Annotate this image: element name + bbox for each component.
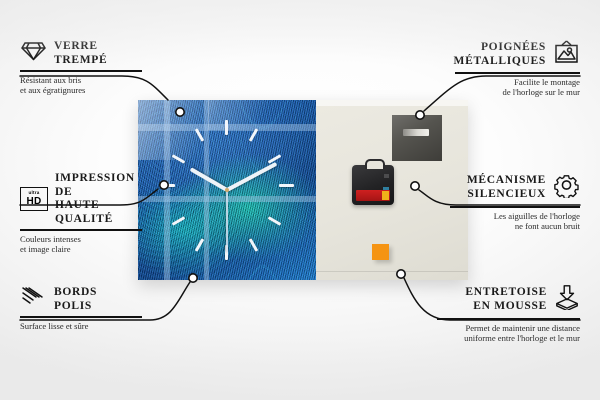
bracket-slot [403, 129, 429, 136]
hour-marker [279, 184, 294, 187]
callout-title-line1: ENTRETOISE [465, 286, 547, 300]
panel-edge-line [316, 271, 468, 272]
callout-title-line2: HAUTE QUALITÉ [55, 199, 155, 226]
polished-edges-icon [20, 286, 47, 313]
hour-marker [160, 184, 175, 187]
callout-desc-line1: Surface lisse et sûre [20, 321, 150, 332]
callout-title-line1: VERRE [54, 40, 107, 54]
ultra-hd-icon-main: HD [26, 197, 41, 207]
callout-rule [455, 72, 580, 74]
callout-desc-line2: et aux égratignures [20, 85, 150, 96]
infographic-canvas: VERRE TREMPÉ Résistant aux bris et aux é… [0, 0, 600, 400]
callout-entretoise-en-mousse[interactable]: ENTRETOISE EN MOUSSE Permet de maintenir… [437, 284, 580, 344]
ultra-hd-icon: ultra HD [20, 187, 48, 211]
callout-rule [20, 316, 142, 318]
callout-title-line1: POIGNÉES [454, 41, 546, 55]
callout-title-line1: IMPRESSION DE [55, 172, 155, 199]
clock-back-panel [316, 100, 468, 280]
foam-spacer-arrow-icon [554, 284, 580, 315]
callout-title-line2: SILENCIEUX [467, 188, 546, 202]
mechanism-hanger-tab [365, 159, 385, 169]
quartz-mechanism [352, 165, 394, 205]
battery [356, 190, 390, 201]
callout-rule [437, 318, 580, 320]
callout-verre-trempe[interactable]: VERRE TREMPÉ Résistant aux bris et aux é… [20, 40, 150, 96]
callout-rule [20, 70, 142, 72]
callout-desc-line1: Facilite le montage [455, 77, 580, 88]
callout-title-line2: EN MOUSSE [465, 300, 547, 314]
glass-glare [208, 100, 288, 130]
callout-poignees-metalliques[interactable]: POIGNÉES MÉTALLIQUES Facilite le montage… [455, 40, 580, 98]
callout-desc-line1: Les aiguilles de l'horloge [450, 211, 580, 222]
panel-sheen [316, 100, 468, 106]
metal-hanging-bracket [392, 115, 442, 161]
callout-desc-line2: ne font aucun bruit [450, 221, 580, 232]
callout-desc-line2: et image claire [20, 244, 155, 255]
callout-title-line2: MÉTALLIQUES [454, 55, 546, 69]
callout-mecanisme-silencieux[interactable]: MÉCANISME SILENCIEUX Les aiguilles de l'… [450, 172, 580, 232]
hour-marker [225, 120, 228, 135]
callout-title-line2: POLIS [54, 300, 97, 314]
callout-title-line1: MÉCANISME [467, 174, 546, 188]
clock-center-pin [225, 188, 229, 192]
picture-frame-hanger-icon [553, 40, 580, 69]
diamond-icon [20, 40, 47, 67]
callout-desc-line1: Couleurs intenses [20, 234, 155, 245]
callout-desc-line2: uniforme entre l'horloge et le mur [437, 333, 580, 344]
callout-rule [450, 206, 580, 208]
callout-desc-line2: de l'horloge sur le mur [455, 87, 580, 98]
second-hand [226, 190, 228, 252]
battery-terminal [382, 191, 389, 200]
callout-title-line1: BORDS [54, 286, 97, 300]
callout-title-line2: TREMPÉ [54, 54, 107, 68]
mechanism-detail [384, 174, 389, 178]
product-image [138, 100, 468, 280]
callout-desc-line1: Permet de maintenir une distance [437, 323, 580, 334]
clock-front-panel [138, 100, 316, 280]
callout-bords-polis[interactable]: BORDS POLIS Surface lisse et sûre [20, 286, 150, 331]
gear-icon [553, 172, 580, 203]
callout-impression-haute-qualite[interactable]: ultra HD IMPRESSION DE HAUTE QUALITÉ Cou… [20, 172, 155, 255]
callout-desc-line1: Résistant aux bris [20, 75, 150, 86]
foam-spacer [372, 244, 389, 260]
callout-rule [20, 229, 142, 231]
